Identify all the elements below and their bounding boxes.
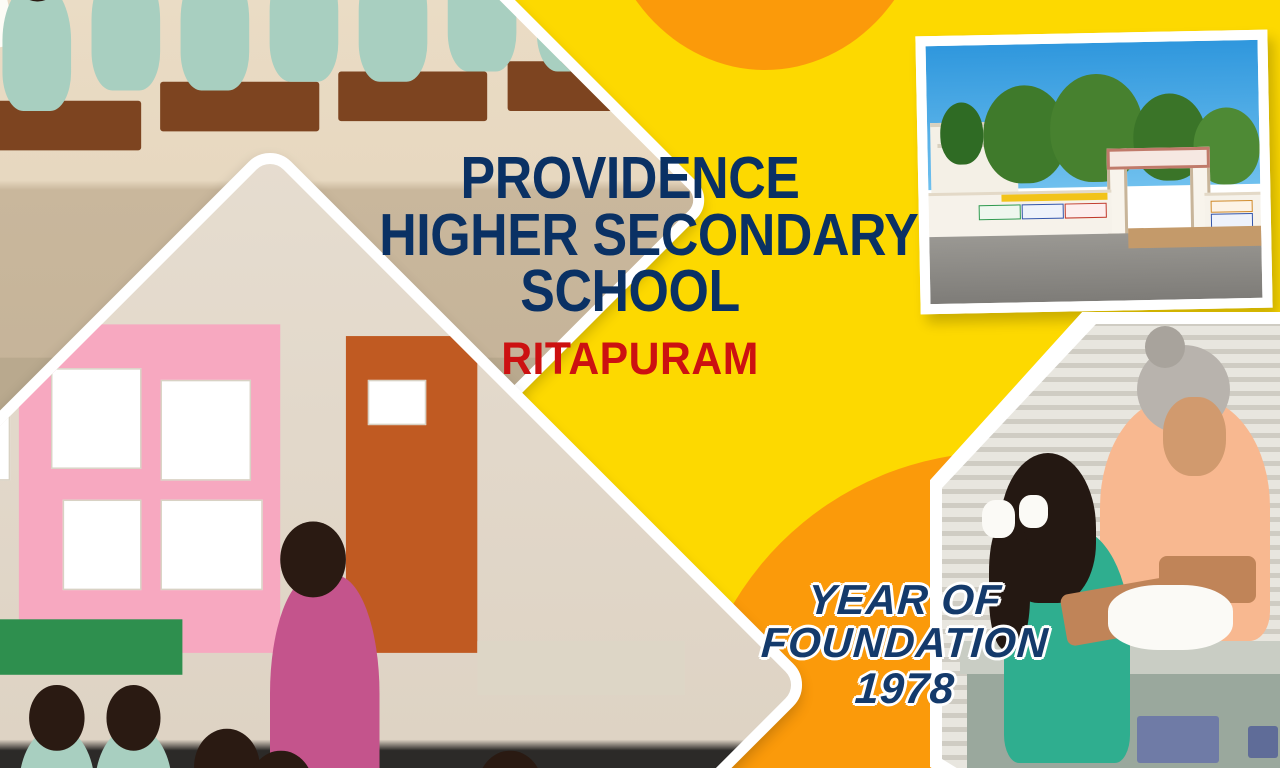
foundation-year: 1978 (740, 667, 1069, 711)
title-line-2: HIGHER SECONDARY (379, 207, 881, 264)
foundation-line-2: FOUNDATION (740, 621, 1069, 664)
title-line-3: SCHOOL (379, 263, 881, 320)
photo-school-gate-image (926, 40, 1263, 304)
title-line-1: PROVIDENCE (379, 150, 881, 207)
foundation-line-1: YEAR OF (740, 578, 1069, 621)
subtitle-location: RITAPURAM (359, 336, 901, 381)
photo-school-gate (915, 30, 1272, 315)
foundation-block: YEAR OF FOUNDATION 1978 (742, 578, 1068, 711)
school-banner: PROVIDENCE HIGHER SECONDARY SCHOOL RITAP… (0, 0, 1280, 768)
title-block: PROVIDENCE HIGHER SECONDARY SCHOOL RITAP… (345, 150, 915, 381)
